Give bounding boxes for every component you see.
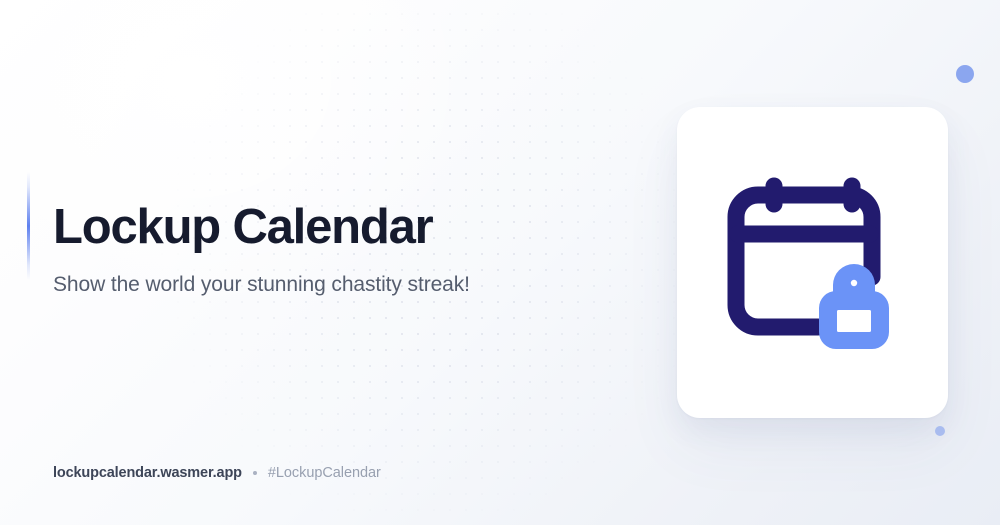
decor-dot-small [935, 426, 945, 436]
decor-dot-large [956, 65, 974, 83]
social-card-canvas: Lockup Calendar Show the world your stun… [0, 0, 1000, 525]
footer-url[interactable]: lockupcalendar.wasmer.app [53, 465, 242, 481]
accent-bar [27, 172, 30, 280]
page-tagline: Show the world your stunning chastity st… [53, 273, 470, 297]
app-icon-card [677, 107, 948, 418]
calendar-lock-icon [725, 177, 901, 349]
page-title: Lockup Calendar [53, 202, 433, 253]
footer-hashtag: #LockupCalendar [268, 465, 381, 481]
footer-separator-dot [253, 471, 257, 475]
footer-meta: lockupcalendar.wasmer.app #LockupCalenda… [53, 465, 381, 481]
background-dot-pattern [150, 0, 710, 525]
